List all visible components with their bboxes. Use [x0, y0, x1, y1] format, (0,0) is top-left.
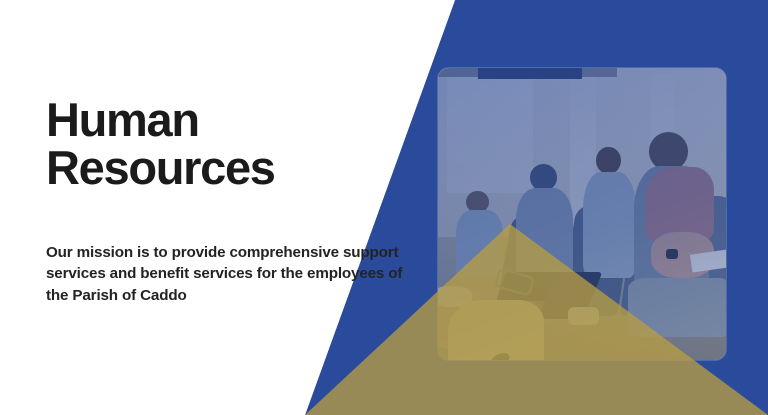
- mission-statement: Our mission is to provide comprehensive …: [46, 192, 406, 307]
- hr-banner: Human Resources Our mission is to provid…: [0, 0, 768, 415]
- page-title: Human Resources: [46, 96, 406, 192]
- banner-text-block: Human Resources Our mission is to provid…: [46, 96, 406, 307]
